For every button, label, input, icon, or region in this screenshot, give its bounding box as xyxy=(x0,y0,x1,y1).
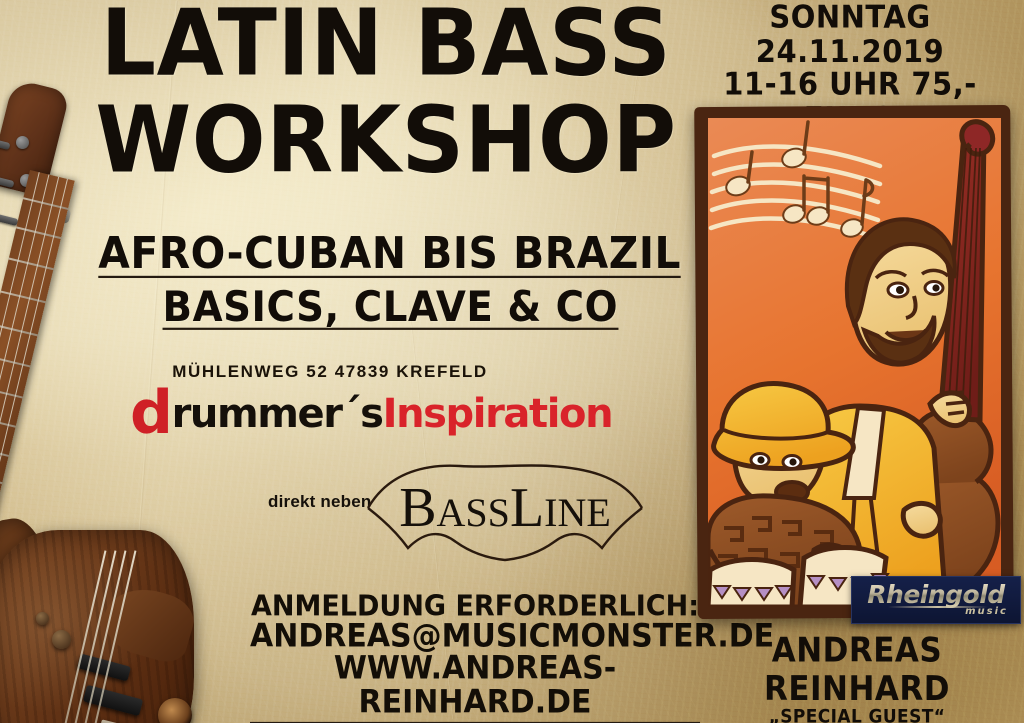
contact-website[interactable]: WWW.ANDREAS-REINHARD.DE xyxy=(250,651,700,723)
bassline-logo: BASSLINE xyxy=(360,462,650,568)
rheingold-sponsor-logo[interactable]: Rheingold music xyxy=(851,576,1021,624)
rheingold-wordmark: Rheingold xyxy=(852,580,1020,609)
tuner-button xyxy=(16,136,29,149)
contact-block: ANMELDUNG ERFORDERLICH: ANDREAS@MUSICMON… xyxy=(250,592,700,722)
subtitle-line-2: BASICS, CLAVE & CO xyxy=(162,288,618,330)
drummers-inspiration-logo: drummer´sInspiration xyxy=(130,383,530,437)
rheingold-tagline: music xyxy=(965,606,1008,617)
bassline-ine: INE xyxy=(544,490,611,535)
subtitle: AFRO-CUBAN BIS BRAZIL BASICS, CLAVE & CO xyxy=(80,236,700,328)
control-knob xyxy=(52,630,71,649)
page-title: LATIN BASS WORKSHOP xyxy=(86,6,686,179)
title-line-2: WORKSHOP xyxy=(68,99,704,183)
bassline-cap-l: L xyxy=(510,477,544,539)
event-date: SONNTAG 24.11.2019 xyxy=(676,0,1024,70)
logo-text-rummers: rummer´s xyxy=(172,391,383,437)
tuner-peg xyxy=(0,213,18,226)
logo-text-inspiration: Inspiration xyxy=(383,391,613,437)
logo-initial-d: d xyxy=(130,378,172,448)
title-line-1: LATIN BASS xyxy=(68,1,704,85)
near-label: direkt neben xyxy=(268,492,371,512)
illustration-artwork xyxy=(696,106,1012,618)
poster-canvas: LATIN BASS WORKSHOP AFRO-CUBAN BIS BRAZI… xyxy=(0,0,1024,723)
artist-main-name: ANDREAS REINHARD xyxy=(690,631,1024,709)
special-guest-label: „SPECIAL GUEST“ xyxy=(690,706,1024,723)
artwork-illustration xyxy=(708,118,1001,607)
artwork-canvas xyxy=(708,118,1001,607)
bassline-wordmark: BASSLINE xyxy=(360,480,650,536)
bassline-ass: ASS xyxy=(437,490,510,535)
strap-button xyxy=(36,612,49,625)
subtitle-line-1: AFRO-CUBAN BIS BRAZIL xyxy=(99,234,682,278)
bassline-cap-b: B xyxy=(399,477,436,539)
bass-neck xyxy=(0,170,75,562)
artist-names-block: ANDREAS REINHARD „SPECIAL GUEST“ ROBERTO… xyxy=(690,634,1024,723)
